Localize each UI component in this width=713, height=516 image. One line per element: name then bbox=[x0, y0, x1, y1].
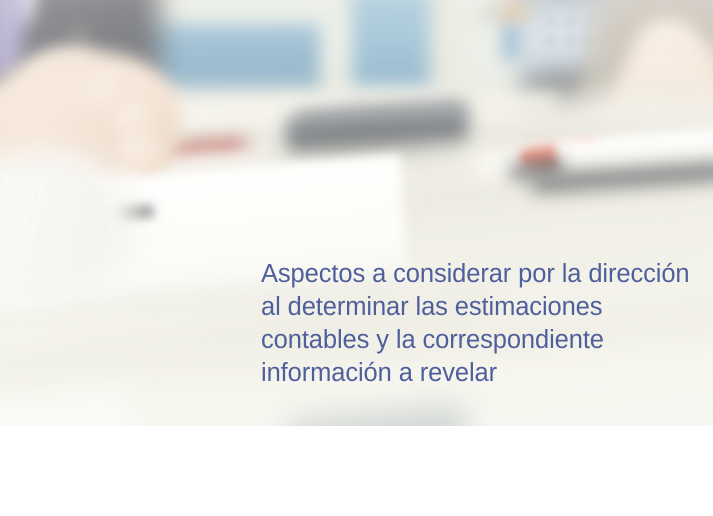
slide-title: Aspectos a considerar por la dirección a… bbox=[261, 258, 703, 390]
wall-device-arm-tip bbox=[500, 6, 526, 15]
wall-device-strip bbox=[504, 18, 518, 60]
blue-wall-panel-right bbox=[352, 0, 430, 88]
lapel-pin bbox=[74, 30, 86, 42]
presentation-slide: Aspectos a considerar por la dirección a… bbox=[0, 0, 713, 516]
